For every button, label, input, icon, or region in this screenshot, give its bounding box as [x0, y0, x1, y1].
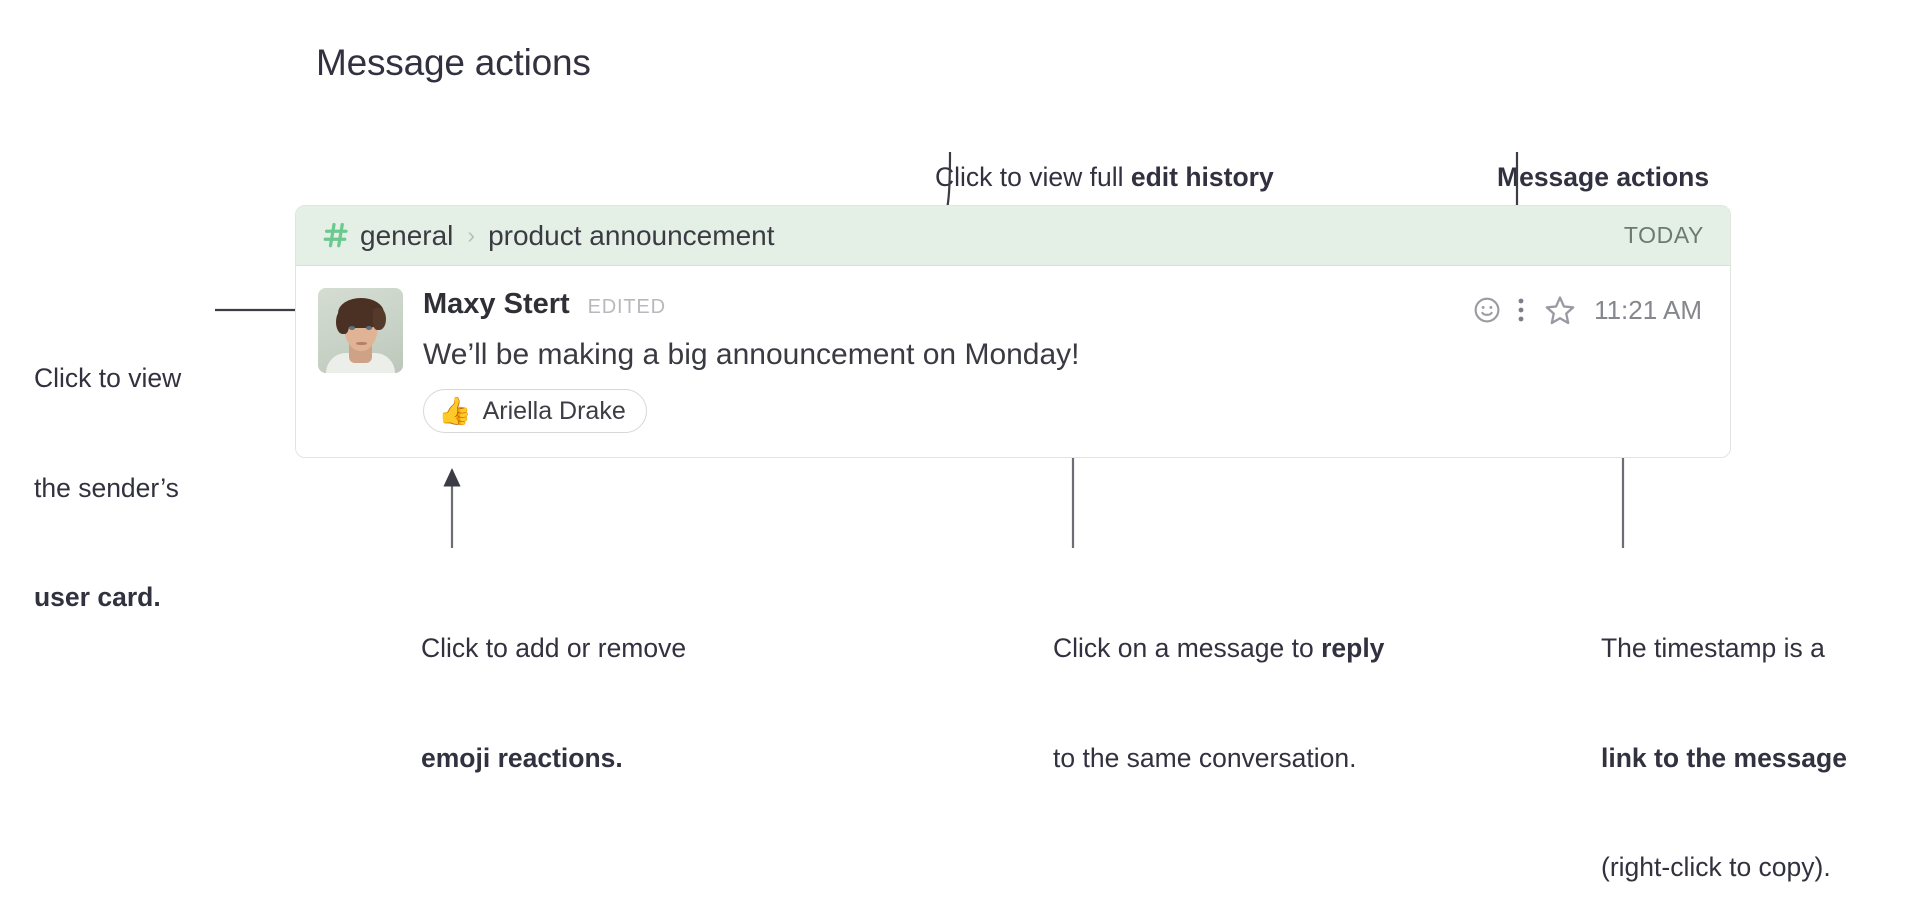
annotation-user-card: Click to view the sender’s user card.	[34, 287, 181, 652]
sender-name[interactable]: Maxy Stert	[423, 288, 570, 321]
annotation-text: Click to view full	[935, 162, 1131, 192]
message-reactions: 👍 Ariella Drake	[423, 389, 1704, 433]
message-recipient-bar: general › product announcement TODAY	[296, 206, 1730, 266]
date-label: TODAY	[1624, 222, 1704, 249]
reaction-pill[interactable]: 👍 Ariella Drake	[423, 389, 647, 433]
topic-name[interactable]: product announcement	[488, 220, 774, 252]
annotation-emphasis: user card.	[34, 582, 161, 612]
annotation-reply: Click on a message to reply to the same …	[1053, 557, 1384, 813]
annotation-timestamp: The timestamp is a link to the message (…	[1601, 557, 1847, 922]
hash-icon	[321, 220, 351, 250]
add-reaction-icon[interactable]	[1470, 293, 1504, 327]
page-title: Message actions	[316, 42, 591, 84]
breadcrumb-separator-icon: ›	[467, 224, 475, 247]
annotation-emphasis: Message actions	[1497, 162, 1709, 192]
message-card: general › product announcement TODAY Max…	[295, 205, 1731, 458]
avatar[interactable]	[318, 288, 403, 373]
annotation-emphasis: edit history	[1131, 162, 1274, 192]
message-action-buttons: 11:21 AM	[1470, 292, 1702, 328]
edited-label[interactable]: EDITED	[588, 296, 666, 319]
reaction-label: Ariella Drake	[483, 397, 626, 426]
annotation-text: Click to view	[34, 360, 181, 397]
message-text[interactable]: We’ll be making a big announcement on Mo…	[423, 336, 1704, 374]
annotation-text: the sender’s	[34, 470, 181, 507]
stream-name[interactable]: general	[360, 220, 453, 252]
annotation-emoji-reactions: Click to add or remove emoji reactions.	[421, 557, 686, 813]
annotation-emphasis: link to the message	[1601, 743, 1847, 773]
star-message-icon[interactable]	[1540, 293, 1580, 327]
annotation-text: (right-click to copy).	[1601, 849, 1847, 886]
thumbs-up-emoji: 👍	[438, 398, 472, 425]
annotation-text: to the same conversation.	[1053, 740, 1384, 777]
annotation-text: Click on a message to	[1053, 633, 1321, 663]
message-body-row[interactable]: Maxy Stert EDITED We’ll be making a big …	[296, 266, 1730, 433]
annotation-text: The timestamp is a	[1601, 630, 1847, 667]
message-timestamp[interactable]: 11:21 AM	[1594, 295, 1702, 326]
annotation-emphasis: emoji reactions.	[421, 743, 623, 773]
message-actions-menu-icon[interactable]	[1504, 293, 1538, 327]
annotation-text: Click to add or remove	[421, 630, 686, 667]
annotation-emphasis: reply	[1321, 633, 1384, 663]
